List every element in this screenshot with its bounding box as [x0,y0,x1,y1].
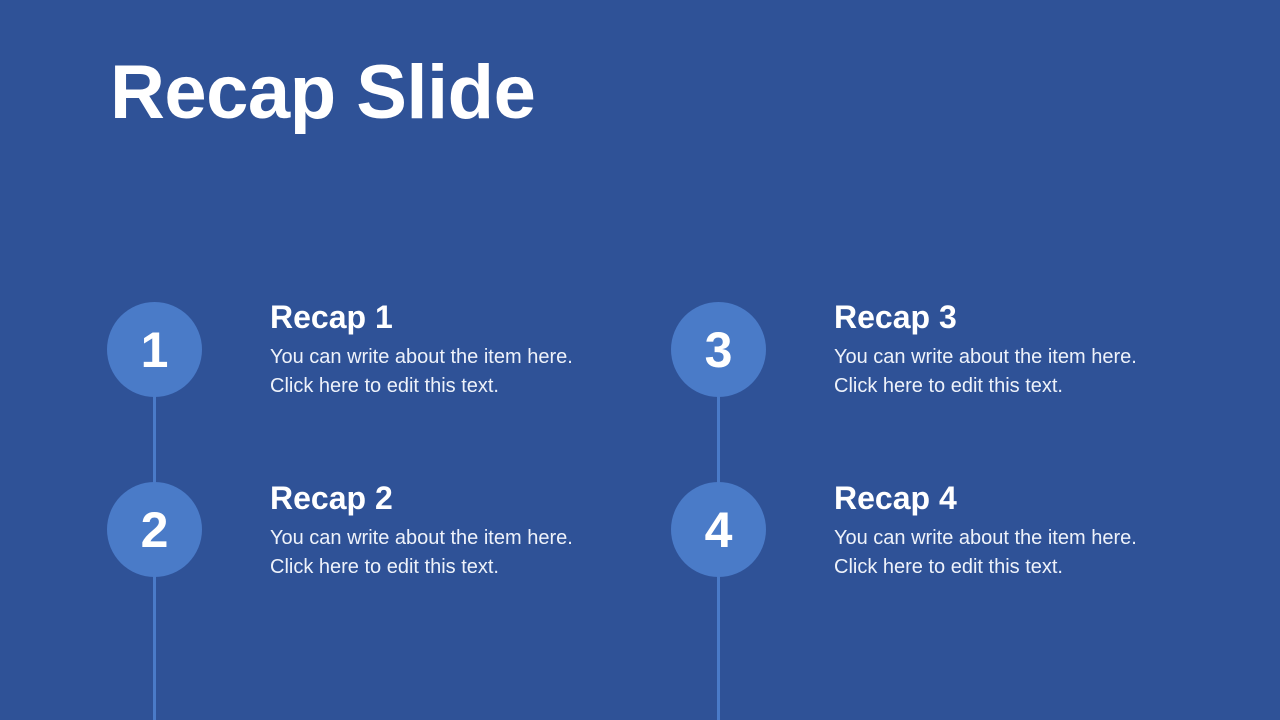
step-text-4[interactable]: You can write about the item here. Click… [834,524,1174,583]
step-circle-4[interactable]: 4 [671,482,766,577]
step-text-3[interactable]: You can write about the item here. Click… [834,343,1174,402]
step-circle-3[interactable]: 3 [671,302,766,397]
step-number-4: 4 [705,505,733,555]
step-number-3: 3 [705,325,733,375]
step-body-4: Recap 4 You can write about the item her… [834,481,1174,582]
step-heading-4: Recap 4 [834,481,1174,516]
step-circle-2[interactable]: 2 [107,482,202,577]
step-text-2[interactable]: You can write about the item here. Click… [270,524,610,583]
step-heading-2: Recap 2 [270,481,610,516]
step-heading-1: Recap 1 [270,300,610,335]
step-body-2: Recap 2 You can write about the item her… [270,481,610,582]
step-number-2: 2 [141,505,169,555]
step-circle-1[interactable]: 1 [107,302,202,397]
page-title: Recap Slide [110,55,535,131]
step-body-3: Recap 3 You can write about the item her… [834,300,1174,401]
step-text-1[interactable]: You can write about the item here. Click… [270,343,610,402]
step-body-1: Recap 1 You can write about the item her… [270,300,610,401]
step-number-1: 1 [141,325,169,375]
step-heading-3: Recap 3 [834,300,1174,335]
recap-slide: Recap Slide 1 Recap 1 You can write abou… [0,0,1280,720]
